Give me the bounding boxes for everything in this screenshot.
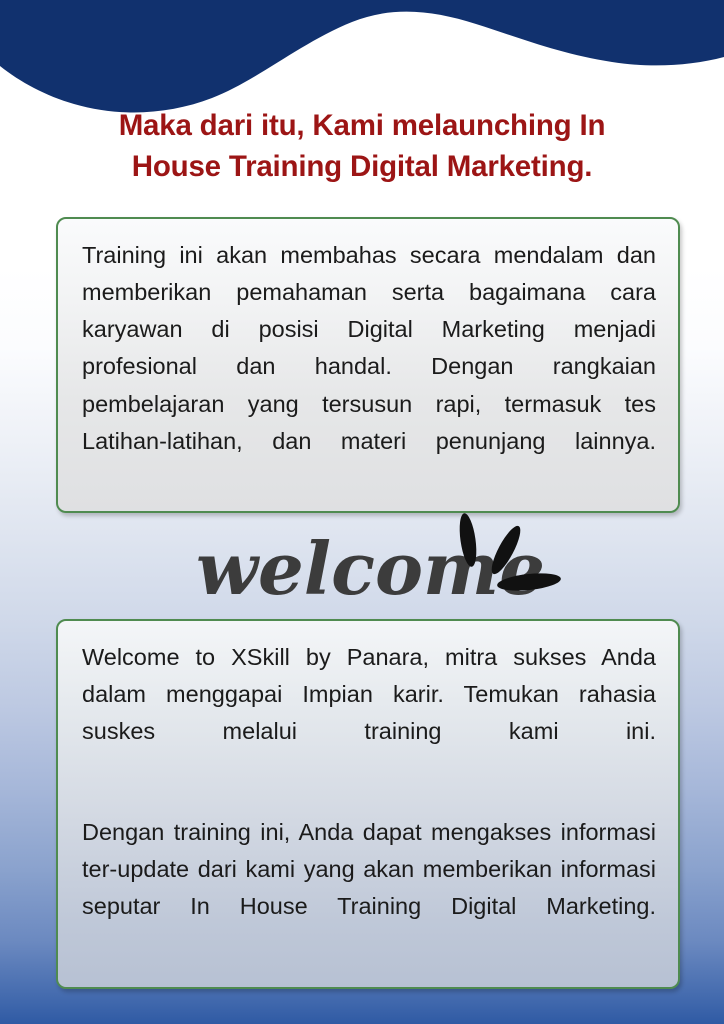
top-wave-decoration bbox=[0, 0, 724, 120]
welcome-paragraph-1: Welcome to XSkill by Panara, mitra sukse… bbox=[82, 639, 656, 788]
page-title-line-2: House Training Digital Marketing. bbox=[52, 147, 672, 188]
welcome-lettering: welcome bbox=[196, 516, 556, 616]
page-title-line-1: Maka dari itu, Kami melaunching In bbox=[52, 106, 672, 147]
welcome-description-card: Welcome to XSkill by Panara, mitra sukse… bbox=[56, 619, 680, 989]
training-description-card: Training ini akan membahas secara mendal… bbox=[56, 217, 680, 513]
training-paragraph-1: Training ini akan membahas secara mendal… bbox=[82, 237, 656, 497]
navy-wave-icon bbox=[0, 0, 724, 120]
welcome-script-icon: welcome bbox=[196, 516, 556, 616]
poster-canvas: Maka dari itu, Kami melaunching In House… bbox=[0, 0, 724, 1024]
welcome-description-body: Welcome to XSkill by Panara, mitra sukse… bbox=[82, 639, 656, 962]
welcome-paragraph-2: Dengan training ini, Anda dapat mengakse… bbox=[82, 814, 656, 963]
training-description-body: Training ini akan membahas secara mendal… bbox=[82, 237, 656, 497]
page-title: Maka dari itu, Kami melaunching In House… bbox=[52, 106, 672, 187]
